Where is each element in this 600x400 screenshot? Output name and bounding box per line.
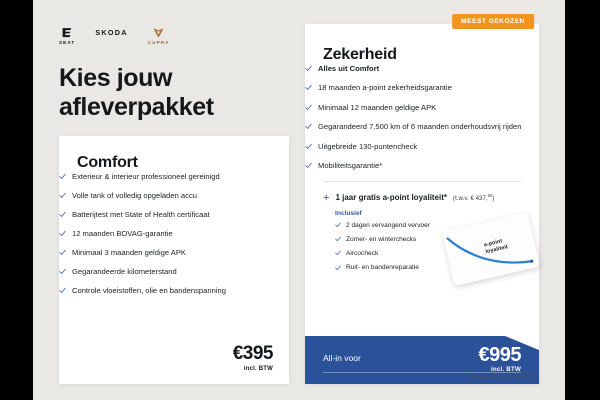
skoda-logo-icon: SKODA (95, 26, 127, 39)
cupra-logo-icon (152, 26, 165, 39)
brand-skoda: SKODA (95, 26, 127, 39)
check-icon (59, 230, 66, 237)
list-item: Batterijtest met State of Health certifi… (59, 210, 289, 220)
list-item-label: 18 maanden a-point zekerheidsgarantie (318, 83, 452, 93)
list-item-label: Mobiliteitsgarantie* (318, 161, 382, 171)
check-icon (335, 265, 341, 271)
list-item-label: 12 maanden BOVAG-garantie (72, 229, 173, 239)
list-item: Mobiliteitsgarantie* (305, 161, 539, 171)
page-canvas: SEAT SKODA CUPRA Kies jouw afleverpakket (33, 0, 565, 400)
list-item-label: Batterijtest met State of Health certifi… (72, 210, 210, 220)
list-item-label: Exterieur & interieur professioneel gere… (72, 172, 220, 182)
brand-logo-row: SEAT SKODA CUPRA (59, 26, 170, 45)
check-icon (59, 287, 66, 294)
check-icon (335, 250, 341, 256)
skoda-logo-label: SKODA (95, 28, 127, 37)
list-item: 12 maanden BOVAG-garantie (59, 229, 289, 239)
status-badge: MEEST GEKOZEN (452, 14, 534, 29)
check-icon (305, 84, 312, 91)
list-item-label: Volle tank of volledig opgeladen accu (72, 191, 197, 201)
list-item-label: Zomer- en winterchecks (346, 236, 416, 245)
list-item-label: 2 dagen vervangend vervoer (346, 222, 430, 231)
included-label: Inclusief (335, 210, 521, 217)
list-item: 18 maanden a-point zekerheidsgarantie (305, 83, 539, 93)
check-icon (59, 268, 66, 275)
list-item: Controle vloeistoffen, olie en bandenspa… (59, 286, 289, 296)
zekerheid-price: €995 (479, 345, 522, 365)
footnote: *Vraag naar de voorwaarden. (469, 374, 539, 380)
package-card-zekerheid[interactable]: MEEST GEKOZEN Zekerheid Alles uit Comfor… (305, 24, 539, 384)
list-item-label: Aircocheck (346, 250, 378, 259)
list-item: Gegarandeerde kilometerstand (59, 267, 289, 277)
check-icon (305, 123, 312, 130)
plus-icon: + (323, 193, 329, 204)
brand-seat: SEAT (59, 26, 75, 45)
comfort-price: €395 (233, 344, 273, 363)
check-icon (305, 162, 312, 169)
check-icon (59, 192, 66, 199)
screenshot-stage: SEAT SKODA CUPRA Kies jouw afleverpakket (0, 0, 600, 400)
list-item: Alles uit Comfort (305, 64, 539, 74)
seat-logo-icon (61, 26, 73, 39)
check-icon (59, 173, 66, 180)
check-icon (59, 211, 66, 218)
check-icon (305, 104, 312, 111)
zekerheid-title: Zekerheid (323, 46, 539, 64)
check-icon (335, 236, 341, 242)
seat-logo-label: SEAT (59, 40, 75, 45)
list-item-label: Controle vloeistoffen, olie en bandenspa… (72, 286, 226, 296)
list-item: Volle tank of volledig opgeladen accu (59, 191, 289, 201)
list-item-label: Gegarandeerde kilometerstand (72, 267, 177, 277)
comfort-price-note: incl. BTW (233, 366, 273, 372)
divider (323, 372, 521, 373)
list-item: Exterieur & interieur professioneel gere… (59, 172, 289, 182)
loyalty-value-prefix: (t.w.v. € 437, (453, 195, 488, 202)
list-item: Gegarandeerd 7.500 km of 6 maanden onder… (305, 122, 539, 132)
check-icon (305, 65, 312, 72)
list-item: Minimaal 3 maanden geldige APK (59, 248, 289, 258)
check-icon (335, 222, 341, 228)
list-item-label: Uitgebreide 130-puntencheck (318, 142, 417, 152)
list-item: Uitgebreide 130-puntencheck (305, 142, 539, 152)
comfort-price-block: €395 incl. BTW (233, 344, 273, 372)
check-icon (305, 143, 312, 150)
loyalty-headline-row: + 1 jaar gratis a-point loyaliteit* (t.w… (323, 192, 521, 203)
list-item-label: Minimaal 3 maanden geldige APK (72, 248, 186, 258)
package-card-comfort[interactable]: Comfort Exterieur & interieur profession… (59, 136, 289, 384)
list-item: Minimaal 12 maanden geldige APK (305, 103, 539, 113)
comfort-title: Comfort (77, 154, 289, 172)
allin-label: All-in voor (323, 353, 361, 363)
zekerheid-feature-list: Alles uit Comfort 18 maanden a-point zek… (305, 64, 539, 172)
page-title: Kies jouw afleverpakket (59, 64, 309, 122)
list-item-label: Gegarandeerd 7.500 km of 6 maanden onder… (318, 122, 521, 132)
cupra-logo-label: CUPRA (148, 40, 170, 45)
divider (323, 181, 521, 182)
comfort-feature-list: Exterieur & interieur professioneel gere… (59, 172, 289, 296)
loyalty-value: (t.w.v. € 437,50) (453, 193, 494, 202)
check-icon (59, 249, 66, 256)
loyalty-title: 1 jaar gratis a-point loyaliteit* (335, 193, 447, 202)
brand-cupra: CUPRA (148, 26, 170, 45)
list-item-label: Minimaal 12 maanden geldige APK (318, 103, 436, 113)
list-item-label: Ruit- en bandenreparatie (346, 264, 419, 273)
loyalty-value-suffix: ) (492, 195, 494, 202)
list-item-label: Alles uit Comfort (318, 64, 379, 74)
loyalty-included-block: Inclusief 2 dagen vervangend vervoer Zom… (335, 210, 521, 273)
